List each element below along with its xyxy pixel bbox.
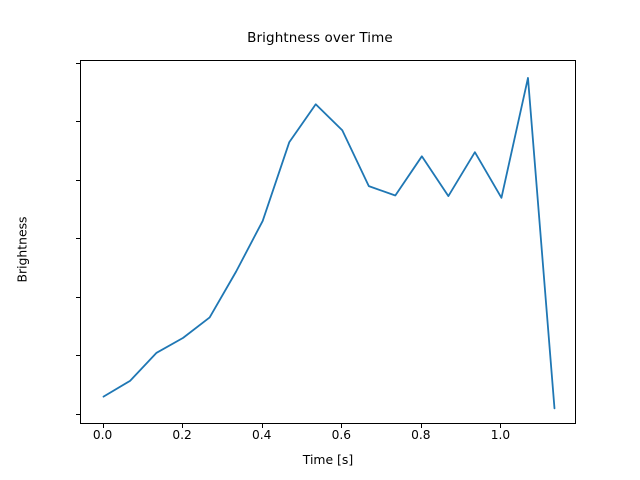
chart-title: Brightness over Time [0,30,640,46]
plot-area [80,60,576,424]
x-tick-label: 0.6 [332,428,351,442]
chart-figure: Brightness over Time Brightness Time [s]… [0,0,640,480]
x-tick-label: 0.0 [93,428,112,442]
brightness-line [104,78,555,408]
x-tick-label: 0.2 [172,428,191,442]
y-axis-label: Brightness [15,150,30,350]
x-axis-label: Time [s] [80,452,576,467]
x-tick-label: 0.4 [252,428,271,442]
x-tick-label: 0.8 [411,428,430,442]
x-tick-label: 1.0 [491,428,510,442]
line-series-svg [81,61,577,425]
